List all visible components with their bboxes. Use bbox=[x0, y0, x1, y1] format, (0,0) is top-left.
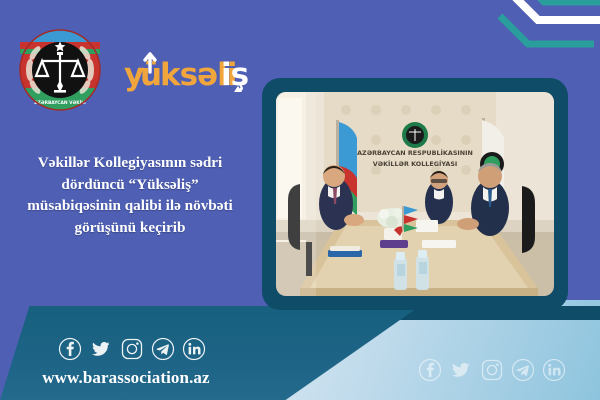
headline-line-2: dördüncü “Yüksəliş” bbox=[6, 174, 254, 196]
headline-line-3: müsabiqəsinin qalibi ilə növbəti bbox=[6, 195, 254, 217]
svg-text:VƏKİLLƏR KOLLEGİYASI: VƏKİLLƏR KOLLEGİYASI bbox=[373, 159, 458, 168]
twitter-icon[interactable] bbox=[89, 337, 113, 361]
telegram-icon[interactable] bbox=[511, 358, 535, 382]
svg-text:iş: iş bbox=[221, 57, 248, 93]
azerbaijan-bar-association-emblem: AZƏRBAYCAN VƏKİLİ bbox=[18, 28, 102, 112]
linkedin-icon[interactable] bbox=[542, 358, 566, 382]
social-links-footer[interactable] bbox=[58, 337, 206, 361]
twitter-icon[interactable] bbox=[449, 358, 473, 382]
instagram-icon[interactable] bbox=[120, 337, 144, 361]
chevron-decoration bbox=[466, 0, 600, 60]
linkedin-icon[interactable] bbox=[182, 337, 206, 361]
poster-canvas: AZƏRBAYCAN VƏKİLİ y ü ksəli iş Vəkillər … bbox=[0, 0, 600, 400]
yukselis-wordmark: y ü ksəli iş bbox=[124, 52, 250, 96]
instagram-icon[interactable] bbox=[480, 358, 504, 382]
telegram-icon[interactable] bbox=[151, 337, 175, 361]
headline-line-1: Vəkillər Kollegiyasının sədri bbox=[6, 152, 254, 174]
facebook-icon[interactable] bbox=[58, 337, 82, 361]
website-url[interactable]: www.barassociation.az bbox=[16, 368, 236, 388]
headline: Vəkillər Kollegiyasının sədri dördüncü “… bbox=[6, 152, 254, 238]
meeting-photo: AZƏRBAYCAN RESPUBLİKASININ VƏKİLLƏR KOLL… bbox=[276, 92, 554, 296]
facebook-icon[interactable] bbox=[418, 358, 442, 382]
svg-text:AZƏRBAYCAN RESPUBLİKASININ: AZƏRBAYCAN RESPUBLİKASININ bbox=[357, 148, 473, 157]
headline-line-4: görüşünü keçirib bbox=[6, 217, 254, 239]
social-links-panel[interactable] bbox=[418, 358, 566, 382]
